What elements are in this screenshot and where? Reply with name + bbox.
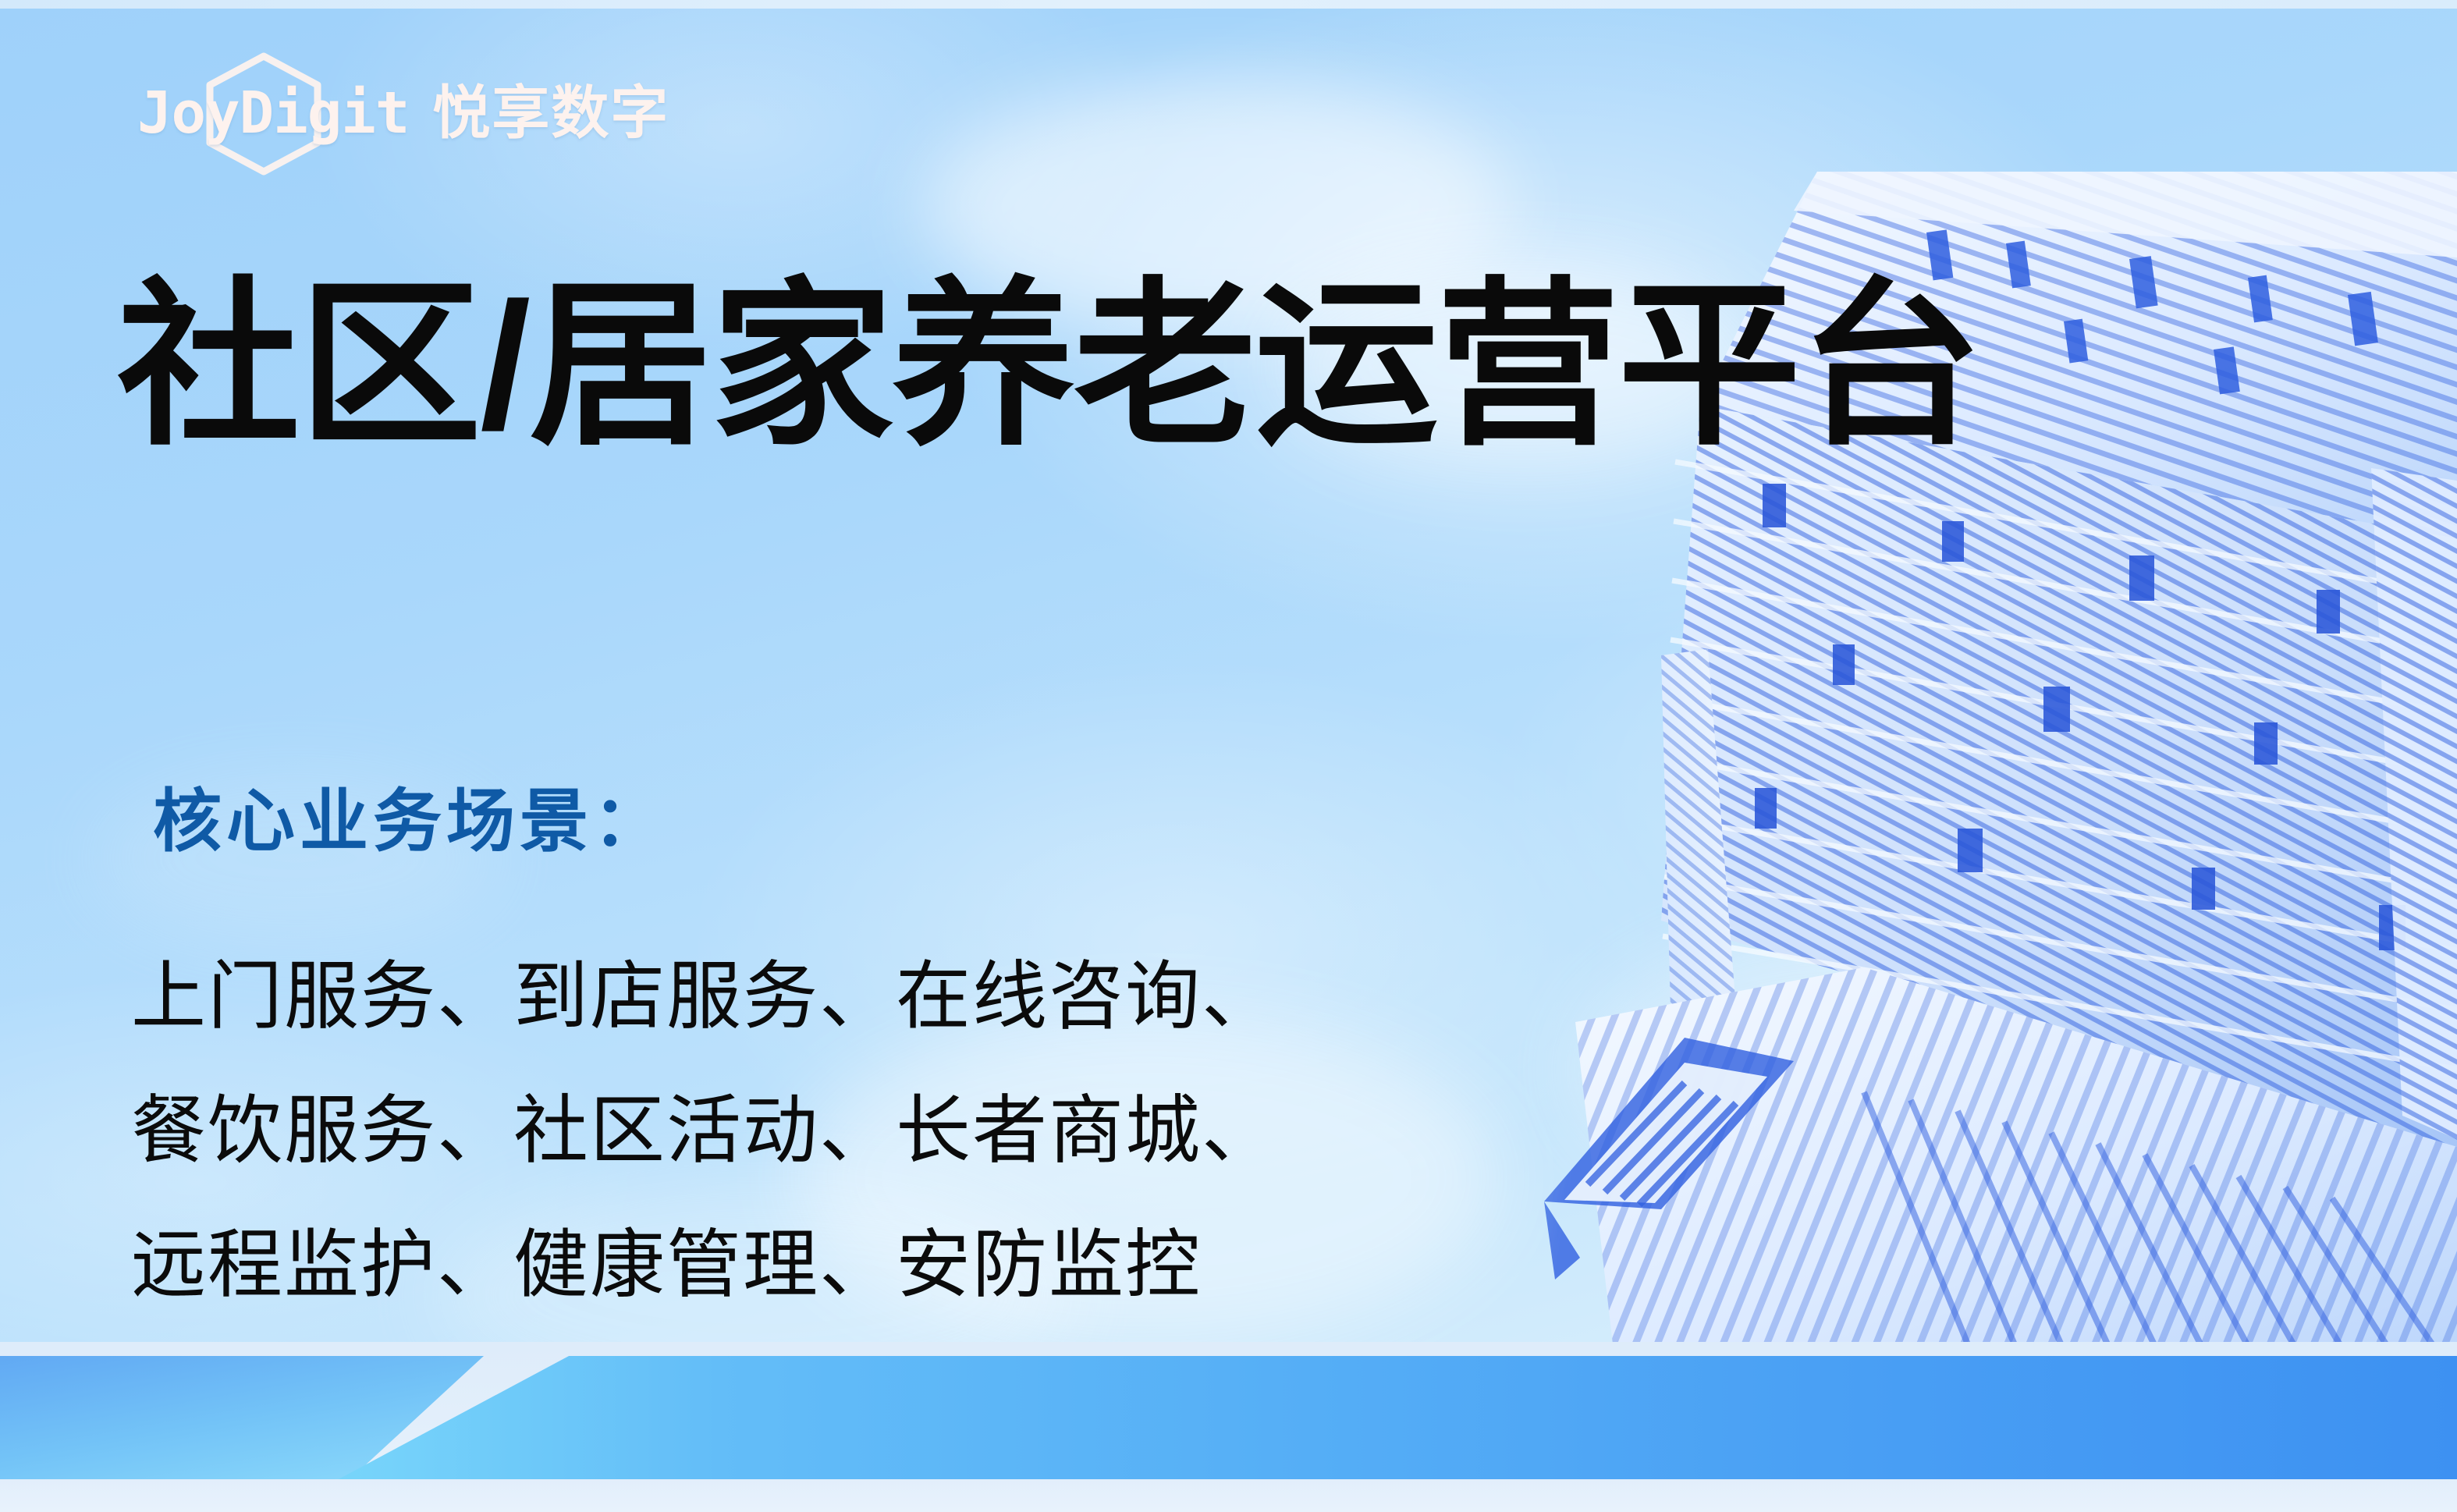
scenario-line: 上门服务、到店服务、在线咨询、 bbox=[131, 930, 1278, 1064]
section-heading: 核心业务场景： bbox=[153, 784, 666, 860]
band-bottom-strip bbox=[0, 1479, 2457, 1512]
logo-chinese-name: 悦享数字 bbox=[432, 84, 669, 142]
page-title: 社区/居家养老运营平台 bbox=[117, 269, 1981, 463]
slide-canvas: JoyDigit 悦享数字 社区/居家养老运营平台 核心业务场景： 上门服务、到… bbox=[0, 0, 2457, 1512]
bottom-decorative-band bbox=[0, 1342, 2457, 1512]
core-business-scenarios: 上门服务、到店服务、在线咨询、 餐饮服务、社区活动、长者商城、 远程监护、健康管… bbox=[131, 930, 1278, 1332]
band-main-parallelogram bbox=[336, 1356, 2457, 1481]
top-edge-strip bbox=[0, 0, 2457, 9]
brand-logo[interactable]: JoyDigit 悦享数字 bbox=[137, 62, 669, 164]
scenario-line: 餐饮服务、社区活动、长者商城、 bbox=[131, 1064, 1278, 1198]
scenario-line: 远程监护、健康管理、安防监控 bbox=[131, 1198, 1278, 1333]
logo-wordmark: JoyDigit bbox=[137, 84, 409, 142]
